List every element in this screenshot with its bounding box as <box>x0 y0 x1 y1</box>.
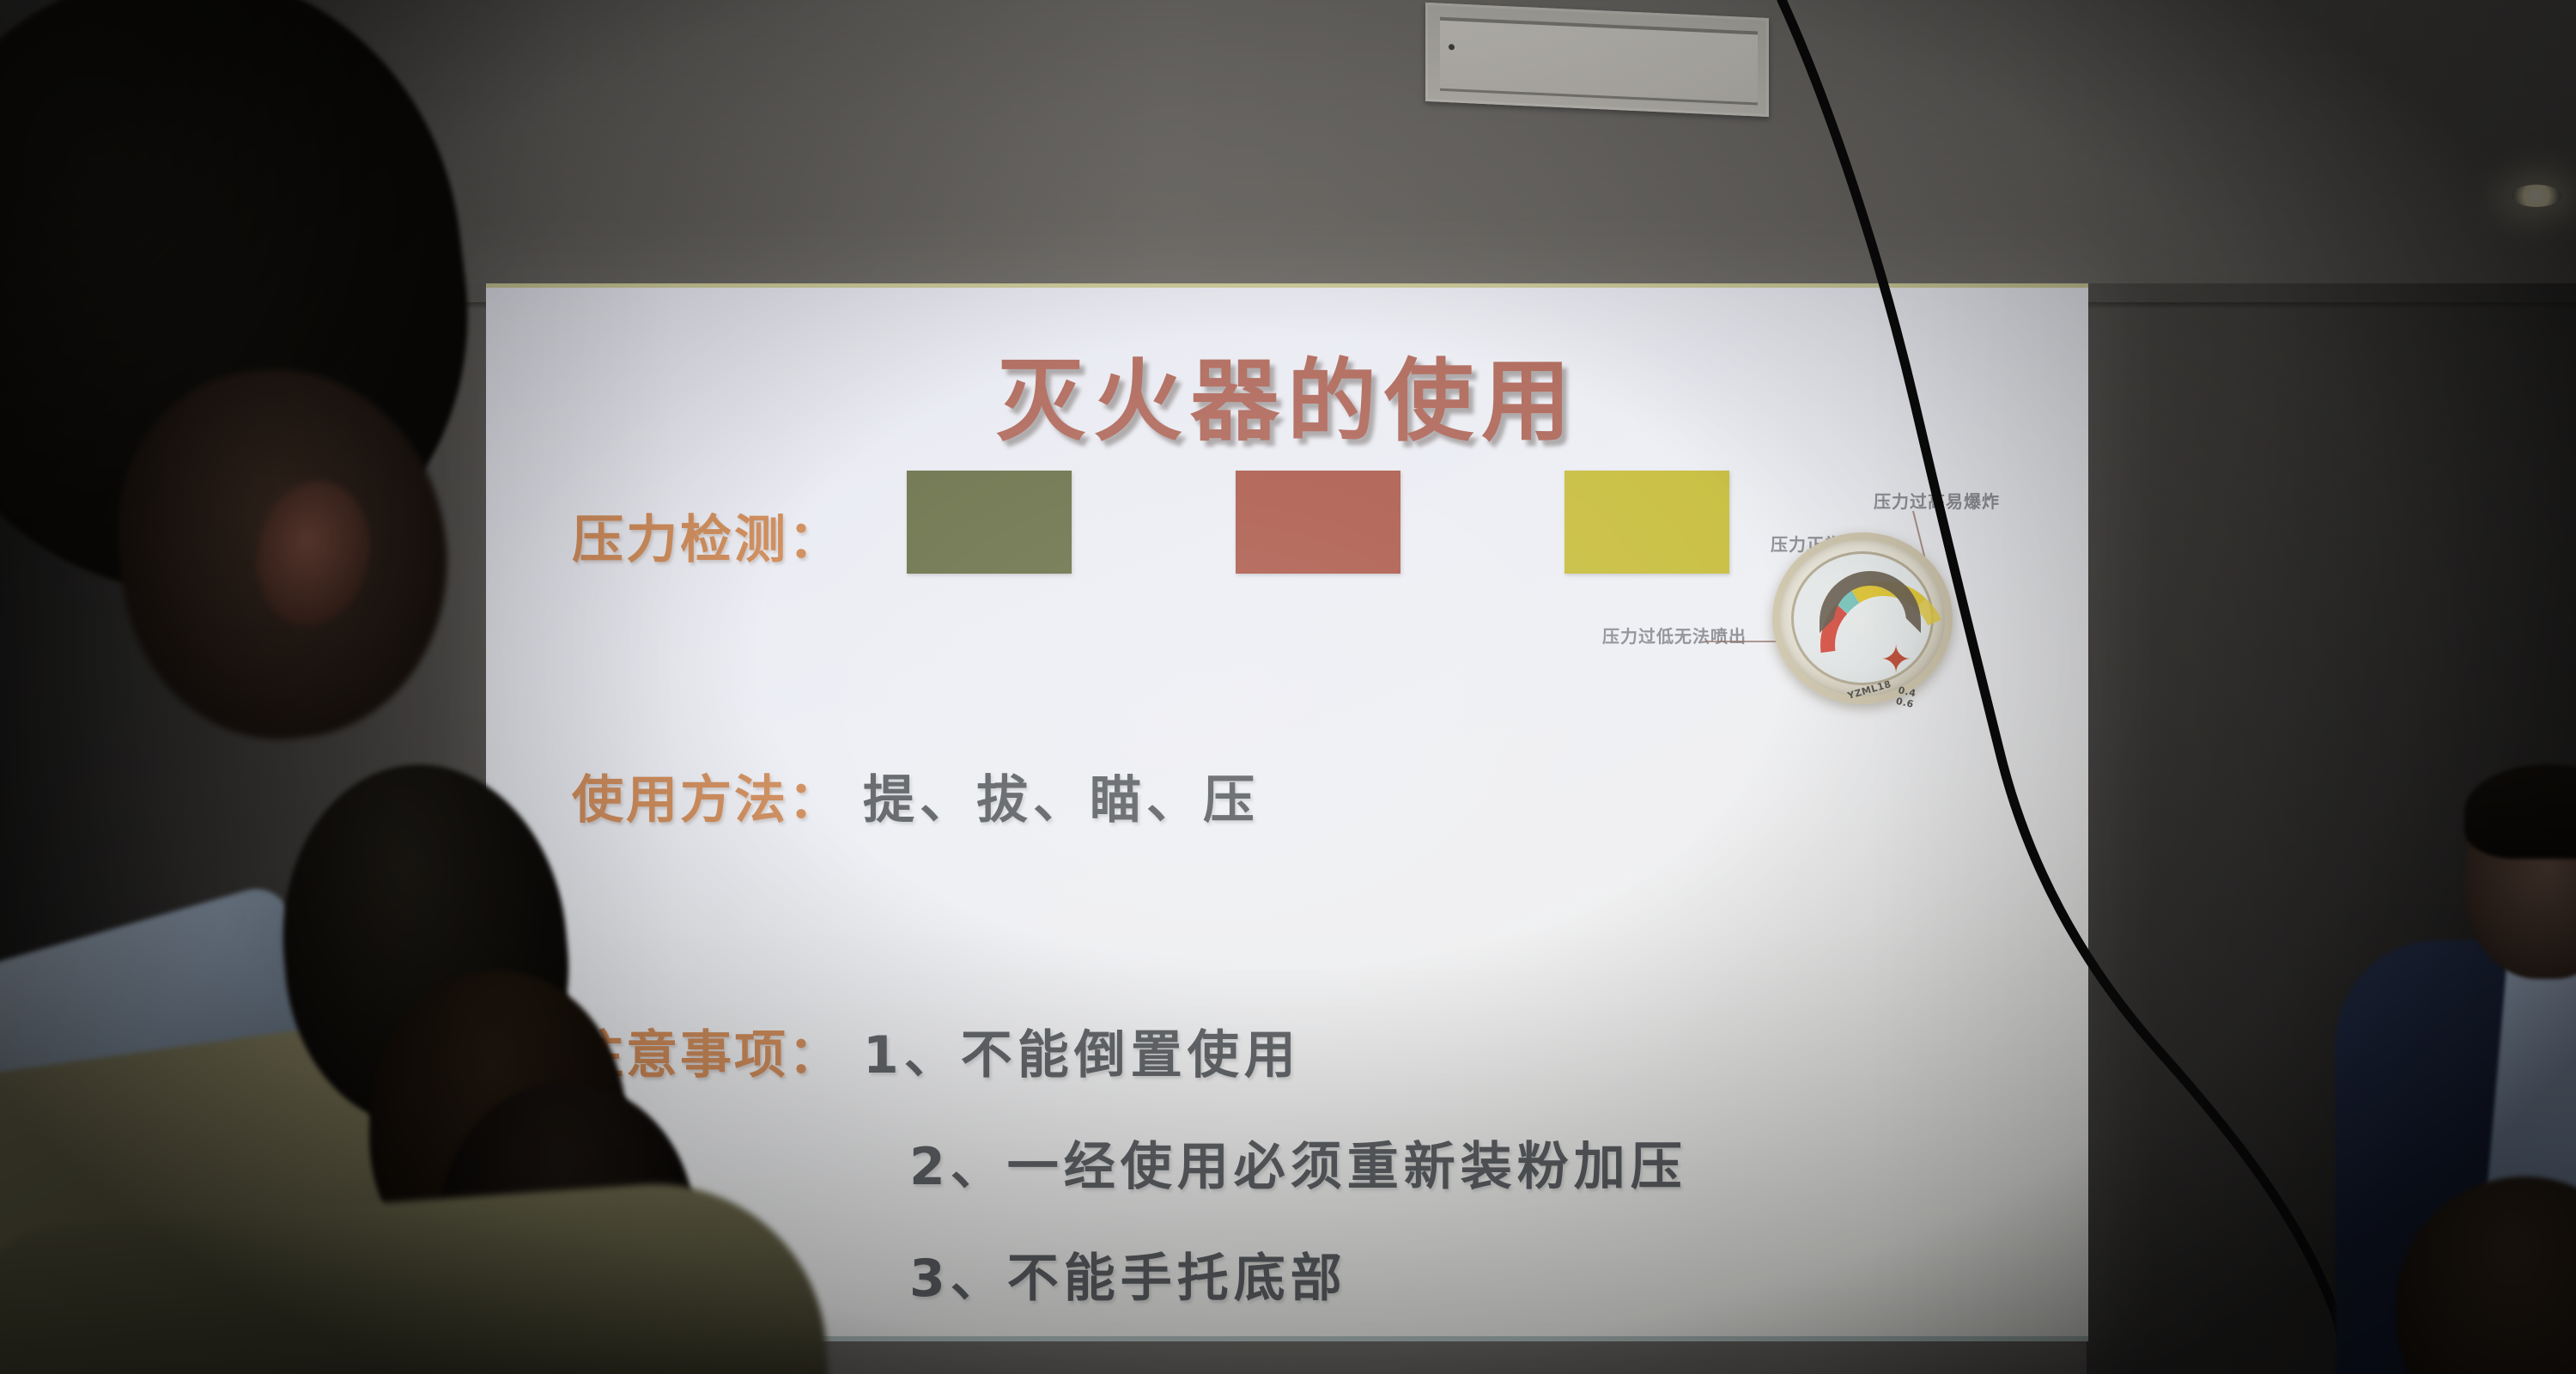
pressure-gauge-illustration: 压力过高易爆炸 压力正常 压力过低无法喷出 <box>1722 481 2083 764</box>
swatch-green <box>907 471 1072 574</box>
note-item-3: 3、不能手托底部 <box>909 1237 1347 1311</box>
slide-title: 灭火器的使用 <box>486 328 2088 458</box>
gauge-caption-low: 压力过低无法喷出 <box>1602 623 1747 647</box>
gauge-caption-high: 压力过高易爆炸 <box>1874 488 2000 513</box>
wall-right-shadow <box>2087 283 2576 1374</box>
note-item-1: 1、不能倒置使用 <box>863 1013 1301 1088</box>
ceiling-shading <box>0 0 2576 309</box>
vent-inner-panel <box>1440 17 1758 106</box>
screen-bottom-edge <box>486 1336 2088 1341</box>
screen-top-edge <box>486 283 2088 288</box>
vent-screw-dot <box>1449 44 1455 50</box>
projector-screen: 灭火器的使用 压力检测： 压力过高易爆炸 压力正常 压力过低无法喷出 <box>486 283 2088 1341</box>
ceiling-downlight <box>2512 185 2561 207</box>
pressure-color-swatches <box>907 471 1729 574</box>
gauge-dial-face: ✦ YZML18 0.4 0.6 <box>1791 551 1934 685</box>
method-value: 提、拔、瞄、压 <box>863 758 1260 833</box>
slide-row-method: 使用方法： 提、拔、瞄、压 <box>572 758 1260 833</box>
method-label: 使用方法： <box>572 758 842 833</box>
gauge-center-mark: ✦ <box>1876 643 1916 681</box>
slide-row-pressure: 压力检测： <box>572 498 842 573</box>
swatch-yellow <box>1564 471 1729 574</box>
swatch-red <box>1236 471 1400 574</box>
slide-row-notes: 注意事项： 1、不能倒置使用 <box>572 1013 1301 1088</box>
note-item-2: 2、一经使用必须重新装粉加压 <box>909 1125 1687 1200</box>
gauge-body: ✦ YZML18 0.4 0.6 <box>1772 532 1953 704</box>
notes-label: 注意事项： <box>572 1013 842 1088</box>
pressure-label: 压力检测： <box>572 498 842 573</box>
ceiling-vent-panel <box>1425 3 1769 117</box>
photo-scene: 灭火器的使用 压力检测： 压力过高易爆炸 压力正常 压力过低无法喷出 <box>0 0 2576 1374</box>
